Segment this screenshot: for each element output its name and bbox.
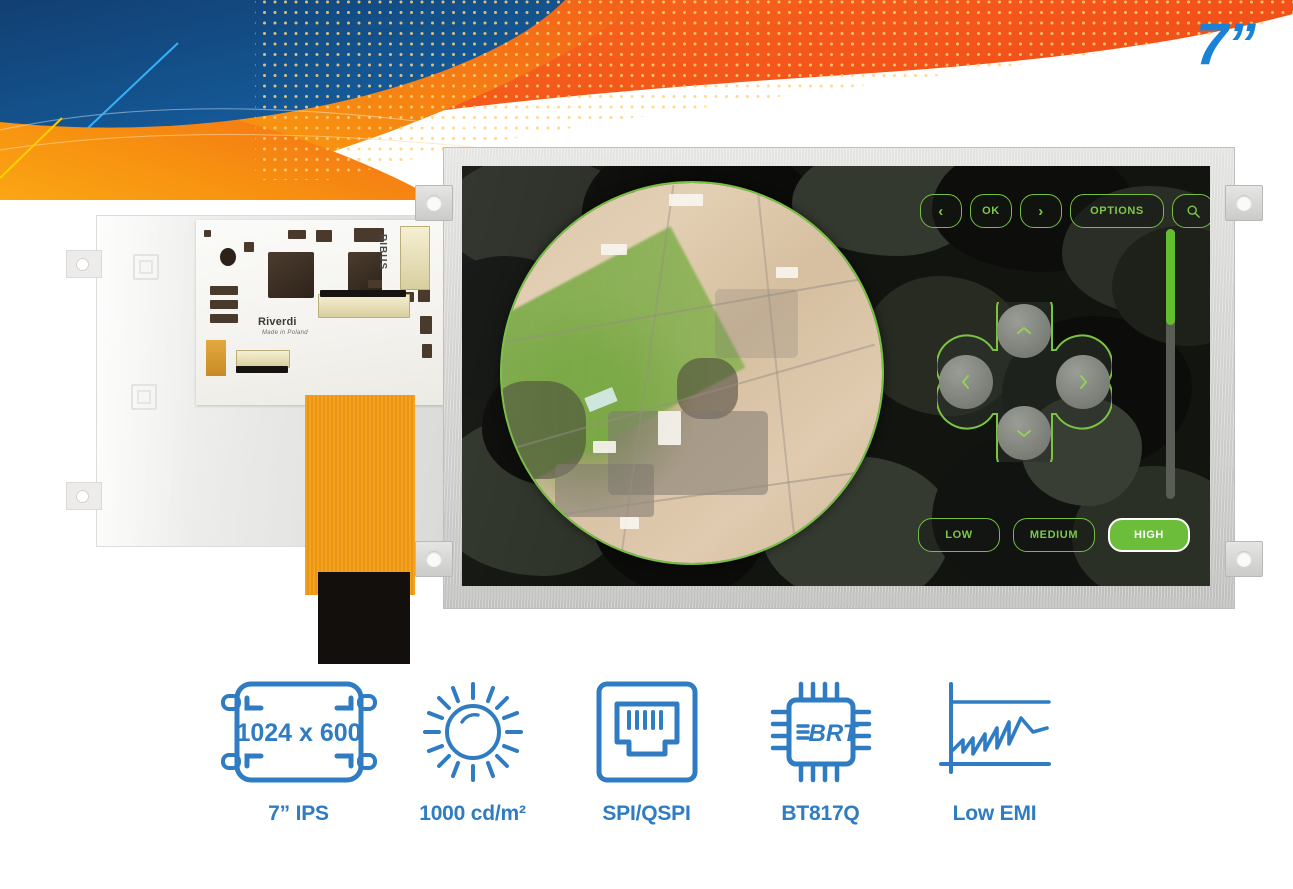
metal-bezel: ‹ OK › OPTIONS bbox=[443, 147, 1235, 609]
feature-label-emi: Low EMI bbox=[953, 802, 1037, 826]
bezel-mount-tab-bottom-left bbox=[415, 541, 453, 577]
pcb-component bbox=[422, 344, 432, 358]
pcb-fpc-connector-main bbox=[318, 294, 410, 318]
map-building bbox=[593, 441, 616, 452]
pcb-component bbox=[244, 242, 254, 252]
dpad-left-button[interactable] bbox=[939, 355, 993, 409]
driver-pcb: Riverdi Made in Poland RIBUS bbox=[196, 220, 449, 405]
brightness-sun-icon bbox=[414, 672, 532, 792]
bezel-mount-tab-top-left bbox=[415, 185, 453, 221]
pcb-component bbox=[210, 314, 238, 323]
next-button[interactable]: › bbox=[1020, 194, 1062, 228]
screen-size-badge: 7” bbox=[1196, 16, 1255, 74]
level-low-button[interactable]: LOW bbox=[918, 518, 1000, 552]
rj45-connector-icon bbox=[591, 672, 703, 792]
map-building bbox=[776, 267, 799, 278]
chip-icon: BRT bbox=[765, 672, 877, 792]
map-building bbox=[669, 194, 703, 205]
feature-controller: BRT BT817Q bbox=[746, 672, 896, 826]
map-viewport-circle[interactable] bbox=[500, 181, 884, 565]
level-medium-button[interactable]: MEDIUM bbox=[1013, 518, 1095, 552]
dpad-up-button[interactable] bbox=[997, 304, 1051, 358]
feature-label-brightness: 1000 cd/m² bbox=[419, 802, 526, 826]
map-building bbox=[658, 411, 681, 445]
level-high-button[interactable]: HIGH bbox=[1108, 518, 1190, 552]
dpad-down-button[interactable] bbox=[997, 406, 1051, 460]
pcb-component bbox=[316, 230, 332, 242]
map-building bbox=[601, 244, 628, 255]
feature-resolution: 1024 x 600 7” IPS bbox=[224, 672, 374, 826]
resolution-icon: 1024 x 600 bbox=[215, 672, 383, 792]
bezel-mount-tab-bottom-right bbox=[1225, 541, 1263, 577]
pcb-component bbox=[204, 230, 211, 237]
made-in-label: Made in Poland bbox=[262, 330, 308, 336]
fpc-ribbon-cable bbox=[305, 395, 415, 595]
lcd-screen: ‹ OK › OPTIONS bbox=[462, 166, 1210, 586]
pcb-component bbox=[288, 230, 306, 239]
ribus-label: RIBUS bbox=[377, 234, 388, 270]
pcb-component bbox=[210, 286, 238, 295]
product-photo: Riverdi Made in Poland RIBUS bbox=[0, 120, 1293, 640]
level-slider-fill bbox=[1166, 229, 1175, 325]
feature-emi: Low EMI bbox=[920, 672, 1070, 826]
chevron-right-icon bbox=[1077, 373, 1089, 391]
cof-driver-block bbox=[318, 572, 410, 664]
lcd-emboss-mark-bottom bbox=[131, 384, 157, 410]
map-paved-area bbox=[715, 289, 799, 357]
dpad-right-button[interactable] bbox=[1056, 355, 1110, 409]
feature-label-resolution: 7” IPS bbox=[268, 802, 329, 826]
pcb-connector-pins bbox=[320, 290, 406, 297]
pcb-component bbox=[420, 316, 432, 334]
feature-interface: SPI/QSPI bbox=[572, 672, 722, 826]
search-icon bbox=[1186, 204, 1201, 219]
pcb-connector-pins bbox=[236, 366, 288, 373]
feature-label-interface: SPI/QSPI bbox=[602, 802, 690, 826]
lcd-mount-tab-left-bottom bbox=[66, 482, 102, 510]
level-slider-track[interactable] bbox=[1166, 229, 1175, 499]
pcb-main-ic bbox=[268, 252, 314, 298]
ok-button[interactable]: OK bbox=[970, 194, 1012, 228]
chevron-left-icon bbox=[960, 373, 972, 391]
chevron-down-icon bbox=[1015, 427, 1033, 439]
resolution-value: 1024 x 600 bbox=[236, 719, 361, 747]
pcb-component bbox=[210, 300, 238, 309]
lcd-emboss-mark-top bbox=[133, 254, 159, 280]
map-shadow-area bbox=[677, 358, 738, 419]
map-paved-area bbox=[555, 464, 654, 517]
bezel-mount-tab-top-right bbox=[1225, 185, 1263, 221]
dpad-control bbox=[937, 302, 1112, 462]
riverdi-logo: Riverdi bbox=[258, 316, 297, 328]
pcb-electrolytic-cap bbox=[220, 248, 236, 266]
map-building bbox=[620, 517, 639, 528]
feature-list: 1024 x 600 7” IPS bbox=[0, 672, 1293, 862]
emi-graph-icon bbox=[937, 672, 1053, 792]
prev-button[interactable]: ‹ bbox=[920, 194, 962, 228]
options-button[interactable]: OPTIONS bbox=[1070, 194, 1164, 228]
lcd-display-module: ‹ OK › OPTIONS bbox=[443, 147, 1233, 634]
pcb-inductor bbox=[206, 340, 226, 376]
search-button[interactable] bbox=[1172, 194, 1210, 228]
feature-brightness: 1000 cd/m² bbox=[398, 672, 548, 826]
chip-brand-text: BRT bbox=[808, 720, 859, 747]
chevron-up-icon bbox=[1015, 325, 1033, 337]
feature-label-controller: BT817Q bbox=[781, 802, 859, 826]
pcb-fpc-connector-top bbox=[400, 226, 430, 290]
lcd-mount-tab-left-top bbox=[66, 250, 102, 278]
pcb-component bbox=[368, 280, 382, 288]
